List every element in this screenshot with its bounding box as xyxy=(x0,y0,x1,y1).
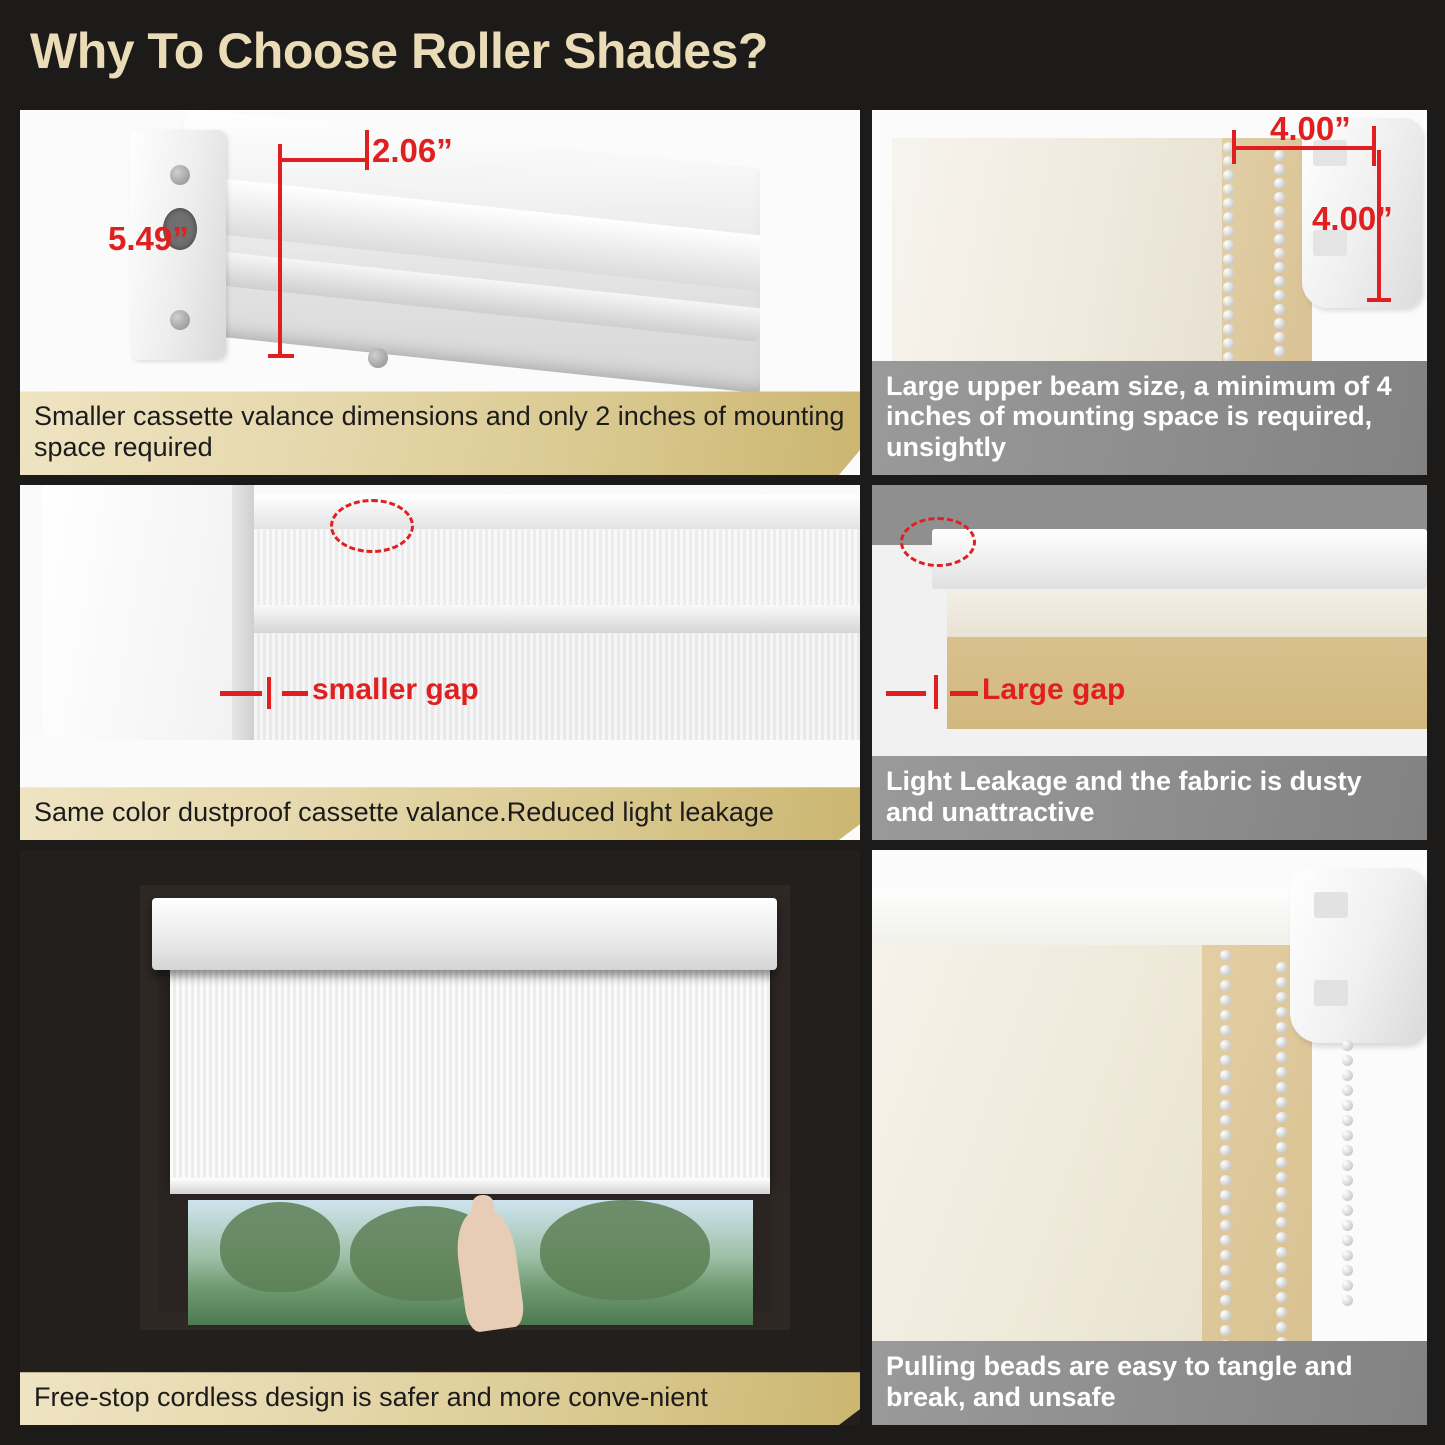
panel-1: 2.06” 5.49” Smaller cassette valance dim… xyxy=(20,110,860,475)
panel-6: Pulling beads are easy to tangle and bre… xyxy=(872,850,1427,1425)
shade-bottom-rail xyxy=(170,1178,770,1194)
panel-6-caption: Pulling beads are easy to tangle and bre… xyxy=(872,1341,1427,1425)
cassette-valance xyxy=(152,898,777,970)
end-cap-notch xyxy=(1314,892,1348,918)
panel-5-caption: Free-stop cordless design is safer and m… xyxy=(20,1372,860,1425)
end-cap-notch xyxy=(1314,980,1348,1006)
panel-3: smaller gap Same color dustproof cassett… xyxy=(20,485,860,840)
dim-line-width xyxy=(278,158,368,162)
panel-5-photo xyxy=(20,850,860,1425)
panel-6-photo xyxy=(872,850,1427,1425)
depth-dimension-label: 4.00” xyxy=(1312,200,1393,238)
gap-arrow-left xyxy=(886,691,926,696)
tree-shape xyxy=(540,1200,710,1300)
page-title: Why To Choose Roller Shades? xyxy=(30,22,768,80)
screw-icon xyxy=(368,348,388,368)
window-jamb xyxy=(42,485,232,740)
highlight-circle xyxy=(900,517,976,567)
gap-tick xyxy=(267,677,271,709)
infographic-page: Why To Choose Roller Shades? 2.06” 5.49”… xyxy=(0,0,1445,1445)
gap-arrow-right xyxy=(282,691,308,696)
shade-fabric-light xyxy=(892,138,1222,363)
window-edge xyxy=(232,485,254,740)
gap-arrow-left xyxy=(220,691,262,696)
panel-3-photo: smaller gap xyxy=(20,485,860,840)
panel-2-caption: Large upper beam size, a minimum of 4 in… xyxy=(872,361,1427,475)
panel-4-caption: Light Leakage and the fabric is dusty an… xyxy=(872,756,1427,840)
shade-fabric xyxy=(170,968,770,1178)
roller-top xyxy=(872,890,1312,950)
dim-cap-bottom xyxy=(268,354,294,358)
shade-fabric-light xyxy=(947,589,1427,637)
shade-rail xyxy=(254,605,860,633)
screw-icon xyxy=(170,165,190,185)
roller-end-cap xyxy=(1290,868,1425,1043)
height-dimension-label: 5.49” xyxy=(108,220,189,258)
gap-tick xyxy=(934,675,938,709)
dim-line-height xyxy=(278,158,282,358)
gap-arrow-right xyxy=(950,691,978,696)
shade-fabric-tan xyxy=(1222,138,1312,363)
panel-1-caption: Smaller cassette valance dimensions and … xyxy=(20,391,860,475)
gap-label: smaller gap xyxy=(312,673,479,707)
panel-3-caption: Same color dustproof cassette valance.Re… xyxy=(20,787,860,840)
dim-tick-right xyxy=(365,130,369,170)
width-dimension-label: 4.00” xyxy=(1270,110,1351,148)
panel-4: Large gap Light Leakage and the fabric i… xyxy=(872,485,1427,840)
panel-2: 4.00” 4.00” Large upper beam size, a min… xyxy=(872,110,1427,475)
panel-5: Free-stop cordless design is safer and m… xyxy=(20,850,860,1425)
screw-icon xyxy=(170,310,190,330)
roller-headrail xyxy=(932,529,1427,589)
highlight-circle xyxy=(330,499,414,553)
width-dimension-label: 2.06” xyxy=(372,132,453,170)
shade-fabric-light xyxy=(872,945,1202,1385)
tree-shape xyxy=(220,1202,340,1292)
dim-cap-bottom xyxy=(1367,298,1391,302)
gap-label: Large gap xyxy=(982,673,1125,707)
